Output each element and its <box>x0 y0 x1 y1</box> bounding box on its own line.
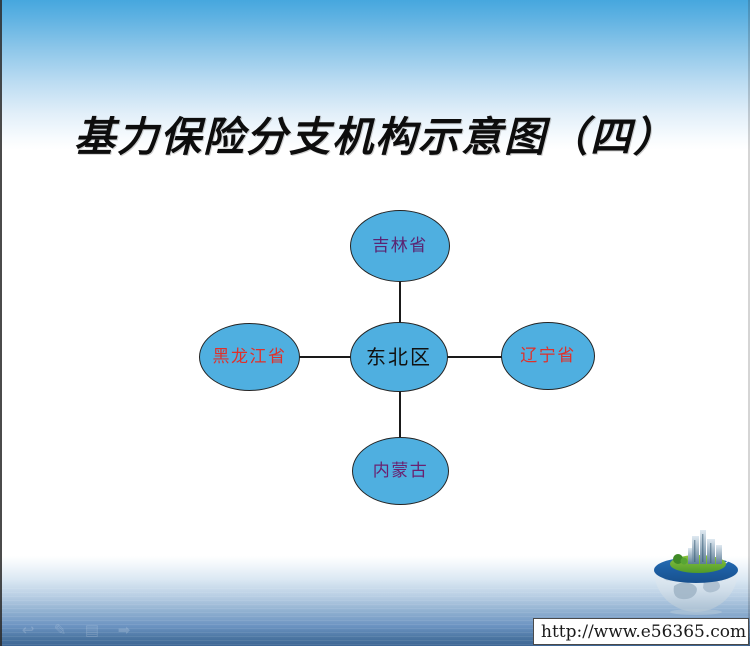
node-label: 吉林省 <box>372 238 428 255</box>
node-label: 辽宁省 <box>520 348 576 365</box>
node-liaoning-province[interactable]: 辽宁省 <box>501 322 595 390</box>
connector-center-to-right <box>447 356 503 358</box>
pen-icon[interactable]: ✎ <box>50 623 70 639</box>
globe-city-logo <box>648 528 744 616</box>
node-inner-mongolia[interactable]: 内蒙古 <box>352 437 449 505</box>
website-url-label[interactable]: http://www.e56365.com <box>533 618 749 645</box>
node-jilin-province[interactable]: 吉林省 <box>350 210 450 282</box>
connector-center-to-bottom <box>399 390 401 438</box>
org-structure-diagram: 吉林省 黑龙江省 东北区 辽宁省 内蒙古 <box>0 0 750 646</box>
node-heilongjiang-province[interactable]: 黑龙江省 <box>199 323 300 391</box>
presentation-slide: 基力保险分支机构示意图（四） 吉林省 黑龙江省 东北区 辽宁省 内蒙古 <box>0 0 750 646</box>
node-label: 内蒙古 <box>373 463 429 480</box>
node-label: 东北区 <box>366 347 432 367</box>
previous-arrow-icon[interactable]: ↩ <box>18 623 38 639</box>
url-text: http://www.e56365.com <box>541 622 746 642</box>
notes-icon[interactable]: ▤ <box>82 623 102 639</box>
connector-center-to-left <box>297 356 353 358</box>
node-northeast-region[interactable]: 东北区 <box>350 322 448 392</box>
connector-center-to-top <box>399 280 401 324</box>
slideshow-controls[interactable]: ↩ ✎ ▤ ➡ <box>18 620 148 642</box>
node-label: 黑龙江省 <box>213 349 287 366</box>
next-arrow-icon[interactable]: ➡ <box>114 623 134 639</box>
